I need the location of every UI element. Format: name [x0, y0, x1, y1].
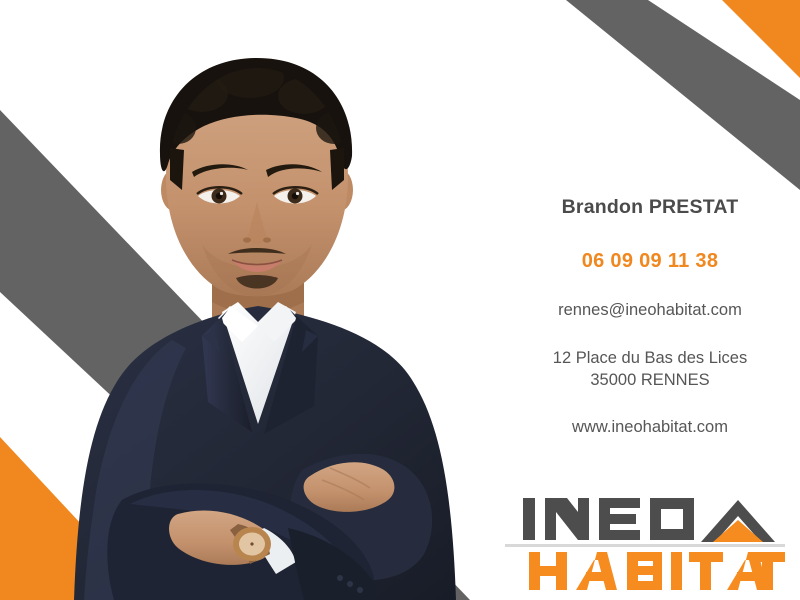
contact-address: 12 Place du Bas des Lices 35000 RENNES: [500, 347, 800, 392]
company-logo[interactable]: [505, 492, 785, 592]
address-line-1: 12 Place du Bas des Lices: [500, 347, 800, 369]
roof-chevron-icon: [701, 500, 775, 542]
logo-word-habitat: [529, 552, 785, 590]
logo-divider: [505, 544, 785, 547]
logo-word-ineo: [523, 498, 694, 540]
contact-name: Brandon PRESTAT: [500, 196, 800, 219]
business-card: Brandon PRESTAT 06 09 09 11 38 rennes@in…: [0, 0, 800, 600]
contact-email[interactable]: rennes@ineohabitat.com: [500, 301, 800, 321]
address-line-2: 35000 RENNES: [500, 369, 800, 391]
contact-block: Brandon PRESTAT 06 09 09 11 38 rennes@in…: [500, 196, 800, 438]
orange-corner-triangle: [722, 0, 800, 78]
portrait-photo: [52, 30, 522, 600]
contact-website[interactable]: www.ineohabitat.com: [500, 418, 800, 438]
gray-diagonal-stripe-top-right: [566, 0, 800, 190]
contact-phone[interactable]: 06 09 09 11 38: [500, 249, 800, 273]
